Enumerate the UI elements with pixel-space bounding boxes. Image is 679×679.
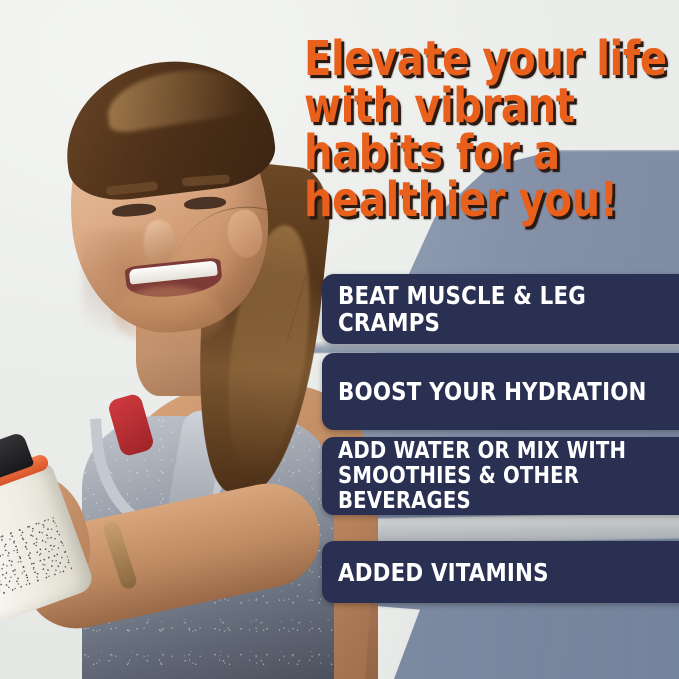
headline-line-4: healthier you! — [304, 177, 650, 224]
benefit-pill-hydration: BOOST YOUR HYDRATION — [322, 353, 679, 430]
benefit-label: ADD WATER OR MIX WITH SMOOTHIES & OTHER … — [338, 439, 668, 514]
benefit-label: BOOST YOUR HYDRATION — [338, 378, 647, 405]
benefit-pill-beat-cramps: BEAT MUSCLE & LEG CRAMPS — [322, 274, 679, 344]
marketing-banner: Elevate your life with vibrant habits fo… — [0, 0, 679, 679]
headline-line-1: Elevate your life — [304, 36, 650, 83]
benefit-pill-mix: ADD WATER OR MIX WITH SMOOTHIES & OTHER … — [322, 437, 679, 515]
benefit-pill-vitamins: ADDED VITAMINS — [322, 541, 679, 603]
headline: Elevate your life with vibrant habits fo… — [304, 36, 650, 224]
benefit-label: BEAT MUSCLE & LEG CRAMPS — [338, 282, 668, 336]
headline-line-3: habits for a — [304, 130, 650, 177]
nose — [144, 220, 174, 264]
benefit-label: ADDED VITAMINS — [338, 559, 549, 586]
headline-line-2: with vibrant — [304, 83, 650, 130]
bottle-label — [0, 516, 73, 599]
